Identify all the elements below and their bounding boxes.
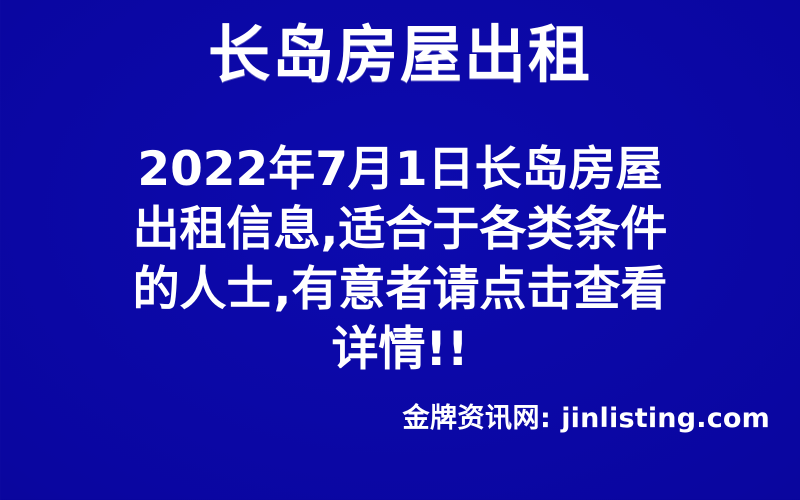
poster-title-block: 长岛房屋出租	[0, 18, 800, 92]
poster-footer-block: 金牌资讯网: jinlisting.com	[0, 402, 770, 436]
rental-advertisement-poster: 长岛房屋出租 2022年7月1日长岛房屋 出租信息,适合于各类条件 的人士,有意…	[0, 0, 800, 500]
poster-body-block: 2022年7月1日长岛房屋 出租信息,适合于各类条件 的人士,有意者请点击查看 …	[60, 140, 740, 380]
site-url-label: jinlisting.com	[561, 403, 770, 434]
body-line-4: 详情!!	[60, 320, 740, 380]
body-line-3: 的人士,有意者请点击查看	[60, 260, 740, 320]
page-title: 长岛房屋出租	[208, 18, 592, 92]
site-attribution: 金牌资讯网: jinlisting.com	[403, 402, 771, 436]
body-line-2: 出租信息,适合于各类条件	[60, 200, 740, 260]
site-name-label: 金牌资讯网:	[403, 403, 552, 434]
body-line-1: 2022年7月1日长岛房屋	[60, 140, 740, 200]
